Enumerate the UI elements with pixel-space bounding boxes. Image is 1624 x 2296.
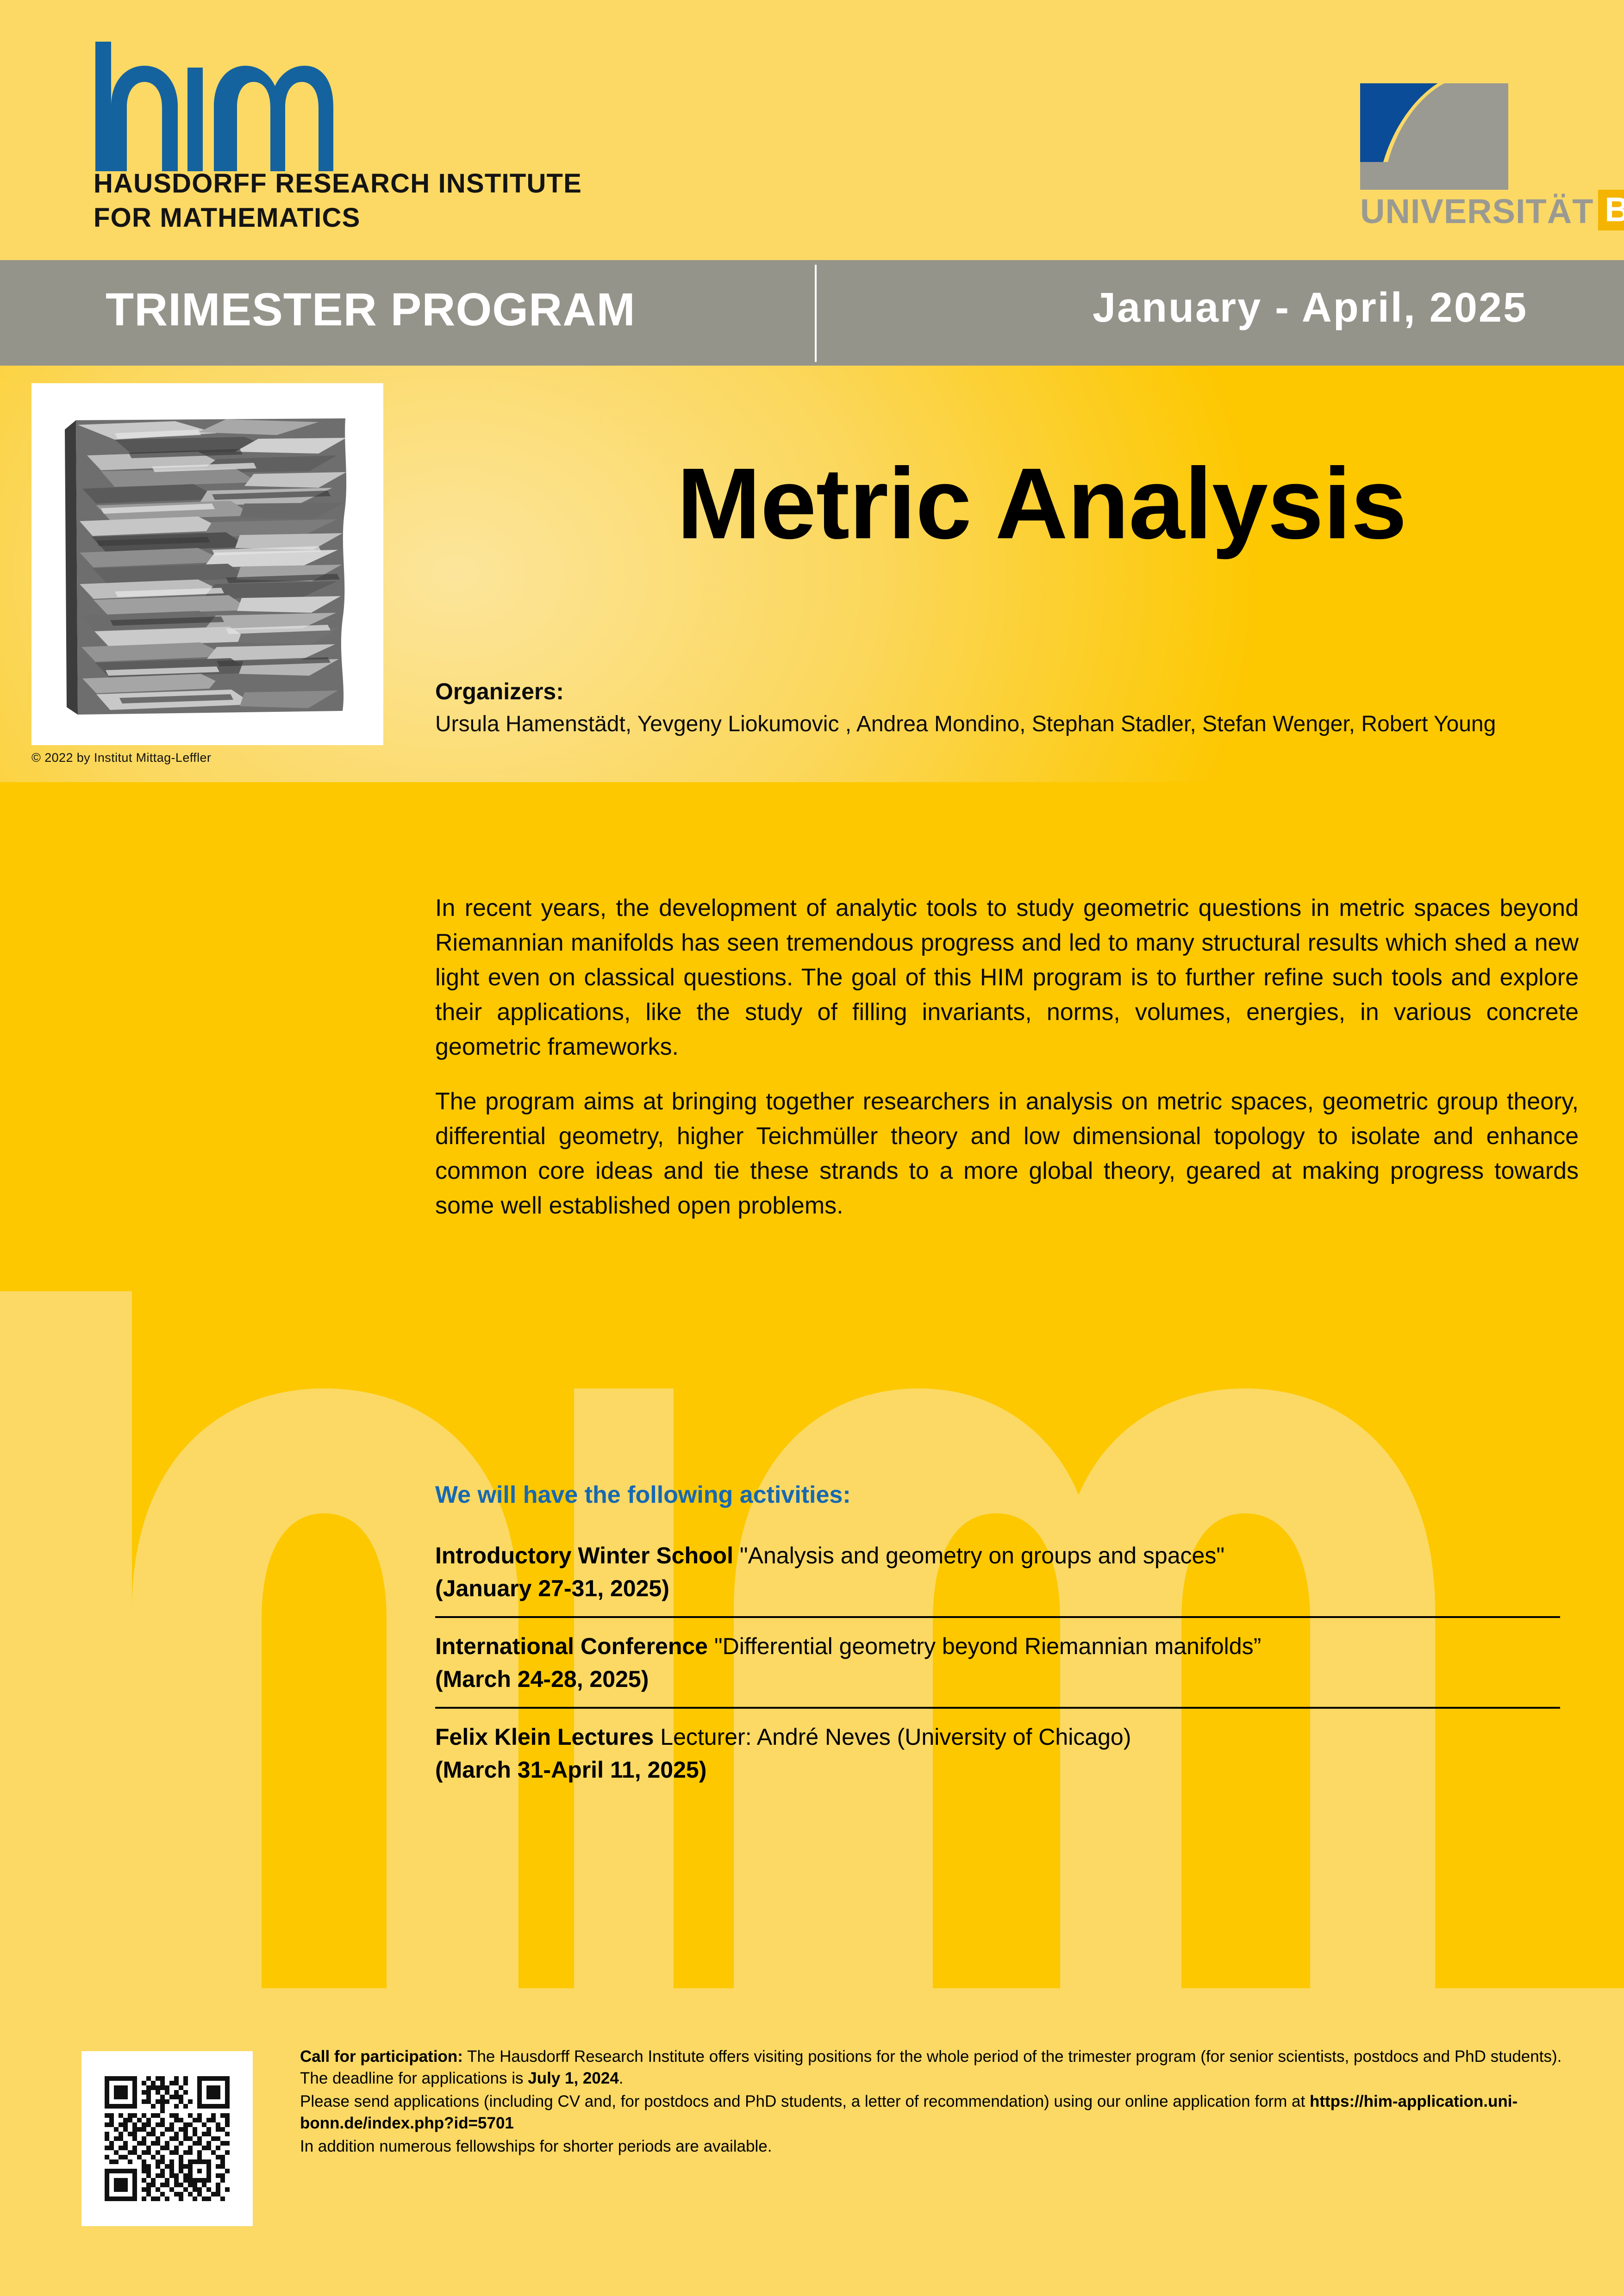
institute-line-2: FOR MATHEMATICS — [94, 201, 695, 235]
activity-detail: "Differential geometry beyond Riemannian… — [708, 1633, 1261, 1659]
footer-paragraph-3: In addition numerous fellowships for sho… — [300, 2136, 1576, 2158]
institute-name: HAUSDORFF RESEARCH INSTITUTE FOR MATHEMA… — [94, 167, 695, 235]
description-block: In recent years, the development of anal… — [435, 891, 1579, 1223]
call-end: . — [619, 2069, 624, 2087]
poster-root: HAUSDORFF RESEARCH INSTITUTE FOR MATHEMA… — [0, 0, 1624, 2296]
activity-item-international-conference: International Conference "Differential g… — [435, 1630, 1560, 1707]
university-bonn-logo: UNIVERSITÄT BONN — [1360, 83, 1527, 230]
image-credit: © 2022 by Institut Mittag-Leffler — [31, 751, 211, 765]
call-text: The Hausdorff Research Institute offers … — [300, 2047, 1562, 2087]
university-name-label: UNIVERSITÄT — [1360, 194, 1598, 230]
footer-paragraph-2: Please send applications (including CV a… — [300, 2091, 1576, 2134]
activity-name: Introductory Winter School — [435, 1543, 733, 1568]
call-label: Call for participation: — [300, 2047, 463, 2066]
call-for-participation: Call for participation: The Hausdorff Re… — [300, 2046, 1576, 2159]
activity-name: International Conference — [435, 1633, 708, 1659]
activity-item-felix-klein-lectures: Felix Klein Lectures Lecturer: André Nev… — [435, 1721, 1560, 1798]
cover-image — [59, 411, 356, 717]
footer-paragraph-1: Call for participation: The Hausdorff Re… — [300, 2046, 1576, 2089]
application-qr-code[interactable] — [81, 2051, 253, 2226]
uni-bonn-mark-icon — [1360, 83, 1508, 190]
page-title: Metric Analysis — [556, 454, 1528, 554]
description-paragraph-1: In recent years, the development of anal… — [435, 891, 1579, 1064]
activity-divider-1 — [435, 1616, 1560, 1618]
application-deadline: July 1, 2024 — [528, 2069, 619, 2087]
poster-header: HAUSDORFF RESEARCH INSTITUTE FOR MATHEMA… — [0, 0, 1624, 259]
bonn-badge: BONN — [1598, 190, 1624, 230]
activities-block: We will have the following activities: I… — [435, 1481, 1560, 1798]
trimester-program-label: TRIMESTER PROGRAM — [106, 283, 636, 336]
activities-heading: We will have the following activities: — [435, 1481, 1560, 1509]
activity-item-winter-school: Introductory Winter School "Analysis and… — [435, 1539, 1560, 1616]
activity-dates: (March 24-28, 2025) — [435, 1666, 649, 1692]
activity-detail: "Analysis and geometry on groups and spa… — [733, 1543, 1224, 1568]
application-instructions: Please send applications (including CV a… — [300, 2092, 1310, 2110]
organizers-block: Organizers: Ursula Hamenstädt, Yevgeny L… — [435, 678, 1579, 738]
activity-detail: Lecturer: André Neves (University of Chi… — [654, 1724, 1131, 1750]
activity-divider-2 — [435, 1707, 1560, 1709]
description-paragraph-2: The program aims at bringing together re… — [435, 1084, 1579, 1223]
cover-image-frame — [31, 383, 383, 745]
activity-dates: (January 27-31, 2025) — [435, 1575, 669, 1601]
institute-line-1: HAUSDORFF RESEARCH INSTITUTE — [94, 167, 695, 201]
university-city-label: BONN — [1605, 190, 1624, 229]
band-divider — [815, 265, 817, 362]
uni-bonn-wordmark: UNIVERSITÄT BONN — [1360, 190, 1527, 230]
organizers-names: Ursula Hamenstädt, Yevgeny Liokumovic , … — [435, 711, 1579, 738]
trimester-band: TRIMESTER PROGRAM January - April, 2025 — [0, 260, 1624, 366]
program-dates-label: January - April, 2025 — [1093, 284, 1528, 332]
organizers-label: Organizers: — [435, 678, 1579, 705]
activity-name: Felix Klein Lectures — [435, 1724, 654, 1750]
activity-dates: (March 31-April 11, 2025) — [435, 1757, 706, 1783]
